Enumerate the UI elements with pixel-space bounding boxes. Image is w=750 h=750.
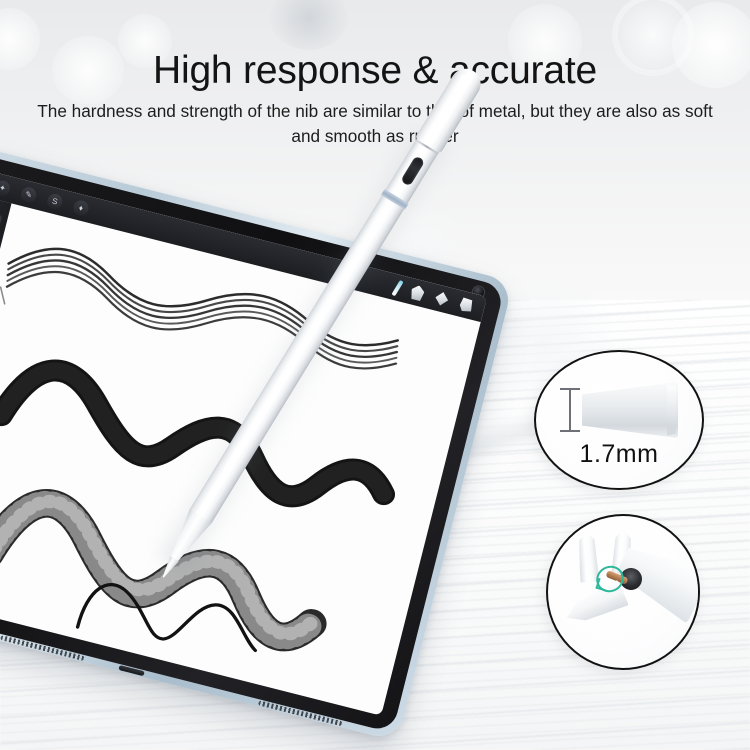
ink-tool-icon[interactable]: ♦ xyxy=(72,198,90,216)
smudge-tool-icon[interactable]: S xyxy=(46,192,64,210)
pen-stroke-icon[interactable] xyxy=(392,279,404,296)
brush-tool-icon[interactable]: ✦ xyxy=(0,179,12,197)
product-marketing-image: High response & accurate The hardness an… xyxy=(0,0,750,750)
pencil-tool-icon[interactable]: ✎ xyxy=(20,185,38,203)
caliper-bottom-bar xyxy=(560,430,580,432)
callout-replaceable-tips xyxy=(546,514,700,670)
caliper-icon xyxy=(560,388,582,432)
dry-charcoal-wave xyxy=(0,489,327,644)
brush-size-slider-icon[interactable] xyxy=(0,211,2,241)
caliper-stem xyxy=(569,388,571,432)
eraser-tool-icon[interactable] xyxy=(409,284,425,302)
nib-size-label: 1.7mm xyxy=(536,440,702,469)
page-subtitle: The hardness and strength of the nib are… xyxy=(22,99,728,149)
layers-tool-icon[interactable] xyxy=(458,296,474,314)
callout-nib-size: 1.7mm xyxy=(534,350,704,490)
page-title: High response & accurate xyxy=(0,48,750,94)
pen-nib-cone-icon xyxy=(582,382,678,438)
lasso-tool-icon[interactable] xyxy=(434,290,450,308)
